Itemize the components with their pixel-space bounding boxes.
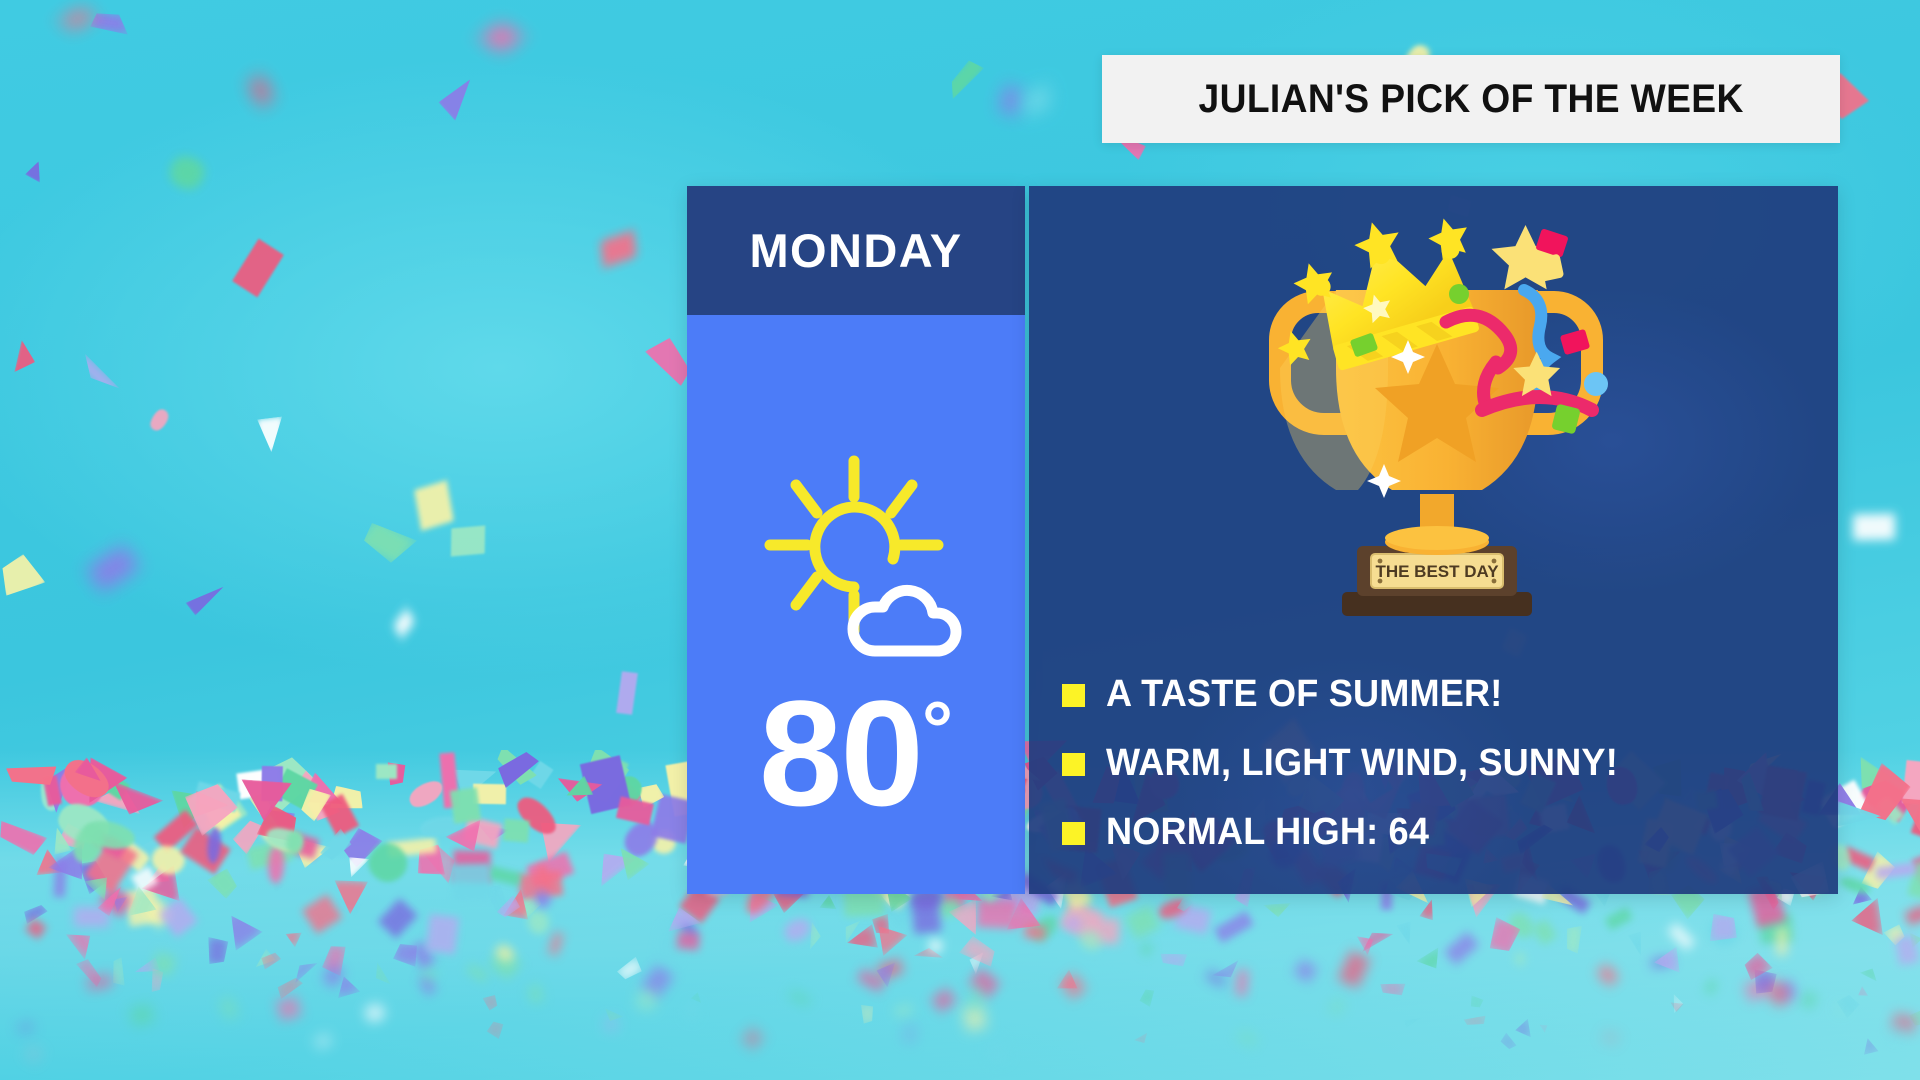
pick-bullet-list: A TASTE OF SUMMER! WARM, LIGHT WIND, SUN… bbox=[1062, 673, 1818, 854]
bullet-square-icon bbox=[1062, 822, 1085, 845]
pick-of-week-panel: THE BEST DAY bbox=[1029, 186, 1838, 894]
bullet-square-icon bbox=[1062, 753, 1085, 776]
day-label: MONDAY bbox=[750, 223, 963, 278]
trophy-plaque-text: THE BEST DAY bbox=[1375, 562, 1499, 581]
title-banner: JULIAN'S PICK OF THE WEEK bbox=[1102, 55, 1840, 143]
list-item: NORMAL HIGH: 64 bbox=[1062, 811, 1818, 854]
trophy-with-crown-icon: THE BEST DAY bbox=[1224, 194, 1644, 624]
bullet-label: WARM, LIGHT WIND, SUNNY! bbox=[1106, 742, 1618, 785]
bullet-label: A TASTE OF SUMMER! bbox=[1106, 673, 1502, 716]
list-item: WARM, LIGHT WIND, SUNNY! bbox=[1062, 742, 1818, 785]
bullet-square-icon bbox=[1062, 684, 1085, 707]
sun-behind-cloud-icon bbox=[687, 455, 1025, 665]
banner-title: JULIAN'S PICK OF THE WEEK bbox=[1198, 77, 1743, 122]
day-forecast-panel: MONDAY 80 ° bbox=[687, 186, 1025, 894]
day-header: MONDAY bbox=[687, 186, 1025, 315]
degree-symbol: ° bbox=[922, 690, 953, 768]
temperature-display: 80 ° bbox=[687, 684, 1025, 822]
bullet-label: NORMAL HIGH: 64 bbox=[1106, 811, 1429, 854]
day-body: 80 ° bbox=[687, 315, 1025, 894]
list-item: A TASTE OF SUMMER! bbox=[1062, 673, 1818, 716]
temperature-value: 80 bbox=[759, 684, 922, 822]
